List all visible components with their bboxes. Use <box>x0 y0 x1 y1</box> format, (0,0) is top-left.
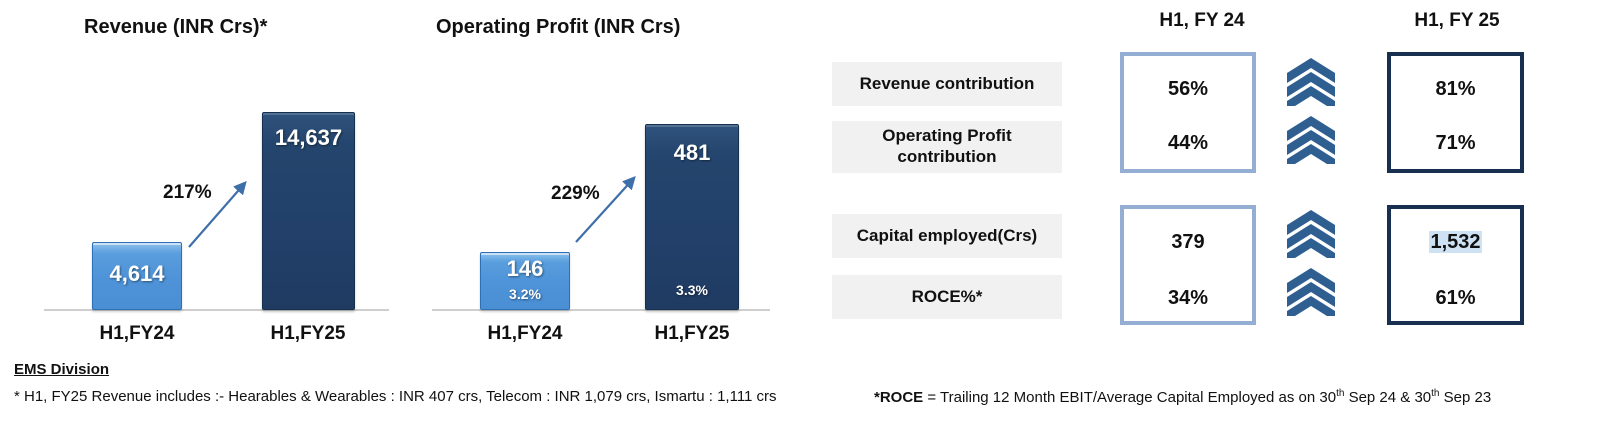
table-header-fy24: H1, FY 24 <box>1122 10 1282 32</box>
operating-profit-bar-h1fy24-margin: 3.2% <box>481 286 569 302</box>
chevron-up-icon-operating-profit-contribution <box>1285 116 1337 164</box>
cell-fy25-revenue-contribution: 81% <box>1391 78 1520 101</box>
value-box-fy25-group1: 81% 71% <box>1387 52 1524 173</box>
chevron-up-icon-revenue-contribution <box>1285 58 1337 106</box>
row-label-operating-profit-contribution: Operating Profit contribution <box>832 121 1062 173</box>
cell-fy24-roce: 34% <box>1124 287 1252 310</box>
cell-fy25-capital-employed-text: 1,532 <box>1429 231 1481 253</box>
cell-fy25-roce: 61% <box>1391 287 1520 310</box>
operating-profit-bar-h1fy25-value: 481 <box>646 140 738 166</box>
row-label-roce-text: ROCE%* <box>912 287 983 308</box>
cell-fy25-operating-profit-contribution: 71% <box>1391 132 1520 155</box>
cell-fy25-capital-employed: 1,532 <box>1391 231 1520 254</box>
value-box-fy24-group1: 56% 44% <box>1120 52 1256 173</box>
row-label-revenue-contribution: Revenue contribution <box>832 62 1062 106</box>
operating-profit-growth-arrow <box>572 170 642 250</box>
row-label-capital-employed-text: Capital employed(Crs) <box>857 226 1037 247</box>
cell-fy24-capital-employed: 379 <box>1124 231 1252 254</box>
operating-profit-bar-h1fy25-margin: 3.3% <box>646 282 738 298</box>
row-label-revenue-contribution-text: Revenue contribution <box>860 74 1035 95</box>
footnote-roce-note: *ROCE = Trailing 12 Month EBIT/Average C… <box>874 388 1491 406</box>
row-label-operating-profit-contribution-text: Operating Profit contribution <box>832 126 1062 167</box>
operating-profit-category-h1fy25: H1,FY25 <box>632 323 752 345</box>
chevron-up-icon-capital-employed <box>1285 210 1337 258</box>
operating-profit-category-h1fy24: H1,FY24 <box>465 323 585 345</box>
value-box-fy25-group2: 1,532 61% <box>1387 205 1524 325</box>
footnote-revenue-note: * H1, FY25 Revenue includes :- Hearables… <box>14 388 777 405</box>
footnote-division: EMS Division <box>14 361 109 378</box>
cell-fy24-revenue-contribution: 56% <box>1124 78 1252 101</box>
cell-fy24-operating-profit-contribution: 44% <box>1124 132 1252 155</box>
row-label-roce: ROCE%* <box>832 275 1062 319</box>
value-box-fy24-group2: 379 34% <box>1120 205 1256 325</box>
chevron-up-icon-roce <box>1285 268 1337 316</box>
footnote-roce-part2: Sep 24 & 30 <box>1344 389 1431 406</box>
footnote-roce-label: *ROCE <box>874 389 923 406</box>
row-label-capital-employed: Capital employed(Crs) <box>832 214 1062 258</box>
operating-profit-bar-h1fy24-value: 146 <box>481 256 569 282</box>
table-header-fy25: H1, FY 25 <box>1372 10 1542 32</box>
operating-profit-chart: 146 3.2% 481 3.3% 229% H1,FY24 H1,FY25 <box>0 0 800 350</box>
footnote-roce-part1: = Trailing 12 Month EBIT/Average Capital… <box>923 389 1336 406</box>
footnote-roce-part3: Sep 23 <box>1439 389 1491 406</box>
operating-profit-bar-h1fy25[interactable]: 481 3.3% <box>645 124 739 310</box>
operating-profit-bar-h1fy24[interactable]: 146 3.2% <box>480 252 570 310</box>
